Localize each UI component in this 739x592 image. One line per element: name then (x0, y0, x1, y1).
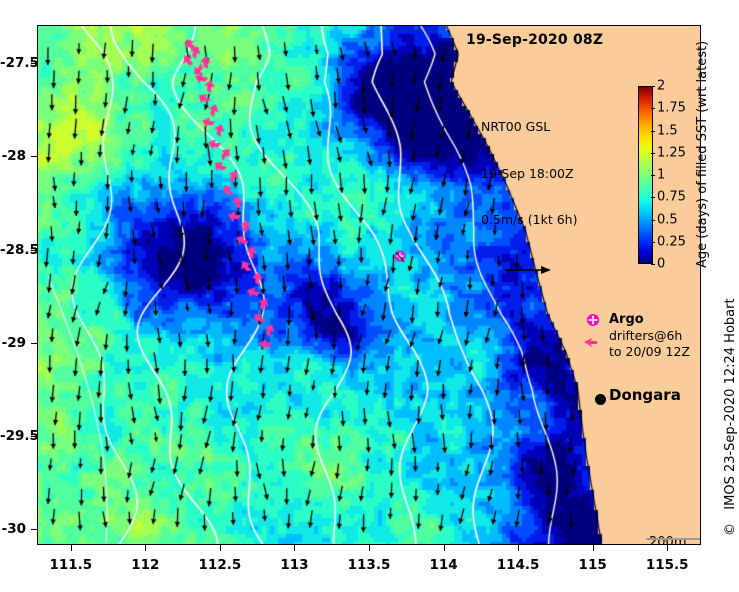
gsl-line-1: NRT00 GSL (481, 119, 593, 135)
x-tick (518, 545, 519, 551)
legend-row-drifters: drifters@6h to 20/09 12Z (609, 328, 690, 360)
gsl-line-3: 0.5m/s (1kt 6h) (481, 212, 593, 228)
x-tick (444, 545, 445, 551)
x-tick (593, 545, 594, 551)
colorbar-tick (651, 175, 655, 176)
colorbar-tick-label: 0.5 (657, 212, 678, 227)
legend-argo-label: Argo (609, 312, 644, 327)
colorbar-title: Age (days) of filled SST (wrt latest) (695, 41, 710, 268)
y-tick-label: -30 (0, 521, 26, 537)
colorbar-tick (651, 197, 655, 198)
map-plot-area[interactable]: 19-Sep-2020 08Z NRT00 GSL 19-Sep 18:00Z … (37, 25, 701, 545)
y-tick-label: -29.5 (0, 428, 26, 444)
y-tick (31, 529, 37, 530)
colorbar-tick (651, 264, 655, 265)
x-tick (294, 545, 295, 551)
y-tick-label: -29 (0, 335, 26, 351)
colorbar-tick-label: 1.25 (657, 145, 686, 160)
y-tick-label: -28.5 (0, 242, 26, 258)
y-tick (31, 343, 37, 344)
credit-label: IMOS 23-Sep-2020 12:24 Hobart (723, 298, 738, 509)
colorbar-tick-label: 0.75 (657, 190, 686, 205)
x-tick-label: 113 (280, 557, 308, 573)
x-tick (145, 545, 146, 551)
colorbar-tick (651, 153, 655, 154)
x-tick-label: 111.5 (49, 557, 92, 573)
colorbar-tick (651, 131, 655, 132)
x-tick-label: 114 (429, 557, 457, 573)
colorbar-tick-label: 0.25 (657, 234, 686, 249)
legend-drifters-line-2: to 20/09 12Z (609, 344, 690, 360)
date-stamp: 19-Sep-2020 08Z (466, 32, 603, 48)
colorbar-tick-label: 1 (657, 168, 665, 183)
gsl-annotation: NRT00 GSL 19-Sep 18:00Z 0.5m/s (1kt 6h) (481, 88, 593, 310)
x-tick-label: 114.5 (497, 557, 540, 573)
colorbar-tick-label: 0 (657, 257, 665, 272)
x-tick-label: 115 (579, 557, 607, 573)
x-tick-label: 113.5 (348, 557, 391, 573)
x-tick (220, 545, 221, 551)
colorbar-tick-label: 1.5 (657, 123, 678, 138)
colorbar-tick (651, 86, 655, 87)
x-tick-label: 112.5 (199, 557, 242, 573)
y-tick-label: -27.5 (0, 55, 26, 71)
drifter-arrow-icon (583, 335, 601, 351)
colorbar-tick (651, 108, 655, 109)
credit-text: © IMOS 23-Sep-2020 12:24 Hobart (723, 298, 738, 536)
scale-rule (646, 538, 701, 540)
colorbar-tick-label: 1.75 (657, 101, 686, 116)
figure-root: 19-Sep-2020 08Z NRT00 GSL 19-Sep 18:00Z … (0, 0, 739, 592)
map-vector-overlay (38, 26, 700, 544)
argo-float-icon (585, 312, 601, 328)
colorbar-tick-label: 2 (657, 79, 665, 94)
y-tick (31, 156, 37, 157)
x-tick (71, 545, 72, 551)
x-tick-label: 115.5 (646, 557, 689, 573)
x-tick-label: 112 (131, 557, 159, 573)
x-tick (667, 545, 668, 551)
dongara-marker (595, 394, 606, 405)
marker-legend: Argo drifters@6h to 20/09 12Z (609, 311, 690, 360)
colorbar-tick (651, 242, 655, 243)
legend-drifters-line-1: drifters@6h (609, 328, 690, 344)
x-tick (369, 545, 370, 551)
gsl-line-2: 19-Sep 18:00Z (481, 166, 593, 182)
dongara-label: Dongara (609, 386, 681, 404)
legend-row-argo: Argo (609, 311, 690, 328)
velocity-scale-arrow-icon (503, 261, 593, 279)
copyright-icon: © (723, 523, 738, 536)
y-tick-label: -28 (0, 148, 26, 164)
colorbar-tick (651, 220, 655, 221)
